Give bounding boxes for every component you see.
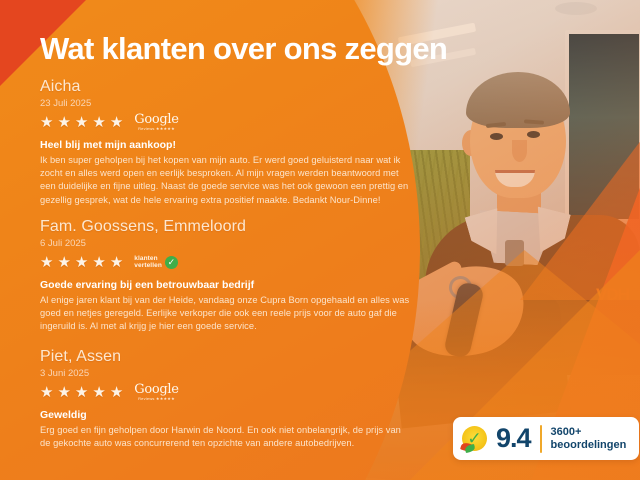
star-icon: ★ — [92, 385, 106, 400]
page-title: Wat klanten over ons zeggen — [40, 33, 447, 64]
checkmark-icon: ✓ — [462, 426, 487, 451]
promo-banner: VDH Wat klanten over ons zeggen — [0, 0, 640, 480]
reviewer-name: Aicha — [40, 78, 412, 96]
rating-count-label: beoordelingen — [551, 439, 627, 452]
review-source: klanten vertellen ✓ — [134, 255, 178, 270]
star-icon: ★ — [110, 255, 124, 270]
google-reviews-label: Reviews ★★★★★ — [138, 127, 175, 131]
star-icon: ★ — [57, 255, 71, 270]
badge-divider — [540, 425, 542, 453]
google-logo-icon: Google Reviews ★★★★★ — [134, 113, 178, 131]
checkmark-icon: ✓ — [165, 256, 178, 269]
star-icon: ★ — [110, 115, 124, 130]
klantenvertellen-logo-icon: klanten vertellen ✓ — [134, 255, 178, 270]
review-source: Google Reviews ★★★★★ — [134, 383, 178, 401]
google-wordmark: Google — [134, 113, 178, 126]
rating-count: 3600+ beoordelingen — [551, 426, 627, 451]
review-rating-row: ★ ★ ★ ★ ★ Google Reviews ★★★★★ — [40, 383, 412, 401]
klantenvertellen-wordmark: klanten vertellen — [134, 255, 162, 270]
review-body: Erg goed en fijn geholpen door Harwin de… — [40, 424, 412, 450]
reviewer-name: Fam. Goossens, Emmeloord — [40, 218, 412, 236]
klantenvertellen-seal-icon: ✓ — [462, 426, 487, 451]
review-body: Al enige jaren klant bij van der Heide, … — [40, 294, 412, 334]
review-date: 6 Juli 2025 — [40, 237, 412, 250]
review-date: 23 Juli 2025 — [40, 97, 412, 110]
star-icon: ★ — [57, 115, 71, 130]
google-reviews-label: Reviews ★★★★★ — [138, 397, 175, 401]
star-icon: ★ — [40, 385, 54, 400]
review-rating-row: ★ ★ ★ ★ ★ Google Reviews ★★★★★ — [40, 113, 412, 131]
star-icon: ★ — [75, 255, 89, 270]
review-title: Geweldig — [40, 409, 412, 422]
rating-count-number: 3600+ — [551, 426, 627, 439]
star-icon: ★ — [40, 255, 54, 270]
star-rating: ★ ★ ★ ★ ★ — [40, 385, 124, 400]
review-title: Heel blij met mijn aankoop! — [40, 139, 412, 152]
review-rating-row: ★ ★ ★ ★ ★ klanten vertellen ✓ — [40, 253, 412, 271]
review-source: Google Reviews ★★★★★ — [134, 113, 178, 131]
rating-badge[interactable]: ✓ 9.4 3600+ beoordelingen — [453, 417, 639, 460]
star-icon: ★ — [75, 115, 89, 130]
star-icon: ★ — [75, 385, 89, 400]
klantenvertellen-line2: vertellen — [134, 262, 162, 270]
star-icon: ★ — [92, 115, 106, 130]
reviewer-name: Piet, Assen — [40, 348, 412, 366]
star-rating: ★ ★ ★ ★ ★ — [40, 115, 124, 130]
rating-score: 9.4 — [496, 425, 531, 452]
google-wordmark: Google — [134, 383, 178, 396]
klantenvertellen-line1: klanten — [134, 255, 162, 263]
star-icon: ★ — [92, 255, 106, 270]
review-body: Ik ben super geholpen bij het kopen van … — [40, 154, 412, 207]
review-date: 3 Juni 2025 — [40, 367, 412, 380]
star-icon: ★ — [40, 115, 54, 130]
review-card: Aicha 23 Juli 2025 ★ ★ ★ ★ ★ Google Revi… — [40, 78, 412, 207]
star-rating: ★ ★ ★ ★ ★ — [40, 255, 124, 270]
google-logo-icon: Google Reviews ★★★★★ — [134, 383, 178, 401]
content-layer: Wat klanten over ons zeggen Aicha 23 Jul… — [0, 0, 640, 480]
review-card: Piet, Assen 3 Juni 2025 ★ ★ ★ ★ ★ Google… — [40, 348, 412, 450]
review-title: Goede ervaring bij een betrouwbaar bedri… — [40, 279, 412, 292]
review-card: Fam. Goossens, Emmeloord 6 Juli 2025 ★ ★… — [40, 218, 412, 334]
star-icon: ★ — [110, 385, 124, 400]
star-icon: ★ — [57, 385, 71, 400]
